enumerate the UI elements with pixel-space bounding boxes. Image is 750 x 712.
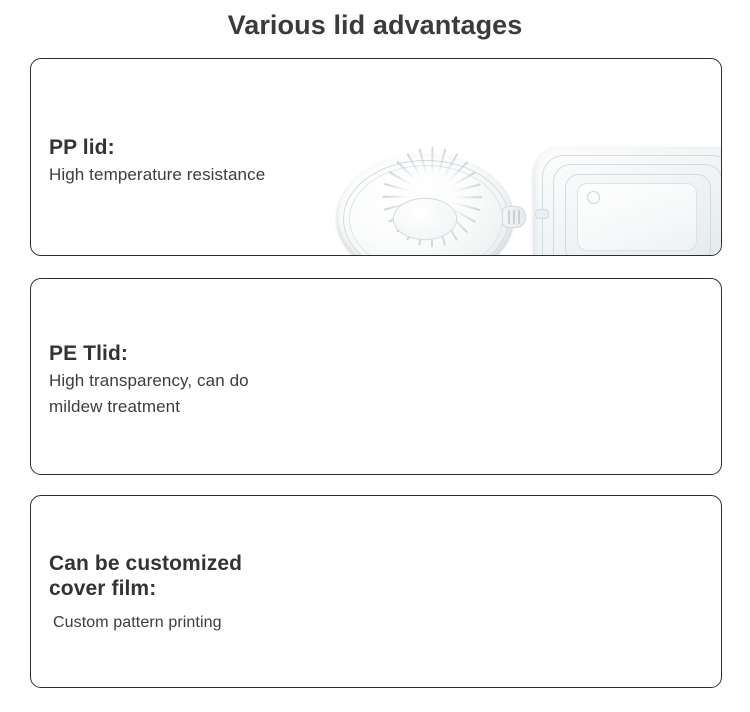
panel-pe-tlid-text: PE Tlid: High transparency, can do milde… [49, 341, 339, 420]
infographic-page: Various lid advantages PP lid: High temp… [0, 0, 750, 712]
panel-pe-tlid-description: High transparency, can do mildew treatme… [49, 368, 339, 420]
page-title: Various lid advantages [0, 9, 750, 41]
pp-rectangular-lid-notch [535, 209, 549, 219]
panel-pp-lid-text: PP lid: High temperature resistance [49, 135, 339, 188]
panel-pp-lid: PP lid: High temperature resistance [30, 58, 722, 256]
pp-rectangular-lid-recycle-mark [587, 191, 600, 204]
panel-pe-tlid: PE Tlid: High transparency, can do milde… [30, 278, 722, 475]
panel-cover-film-description: Custom pattern printing [53, 610, 339, 636]
panel-pp-lid-description: High temperature resistance [49, 162, 339, 188]
panel-pe-tlid-heading: PE Tlid: [49, 341, 339, 366]
panel-cover-film-text: Can be customized cover film: Custom pat… [49, 551, 339, 636]
pp-rectangular-lid-image [533, 147, 722, 256]
panel-pp-lid-heading: PP lid: [49, 135, 339, 160]
pp-round-lid-image [336, 154, 526, 256]
pp-round-lid-tab [502, 206, 526, 228]
panel-cover-film-heading: Can be customized cover film: [49, 551, 339, 601]
pp-round-lid-center [394, 199, 456, 239]
panel-cover-film: Can be customized cover film: Custom pat… [30, 495, 722, 688]
